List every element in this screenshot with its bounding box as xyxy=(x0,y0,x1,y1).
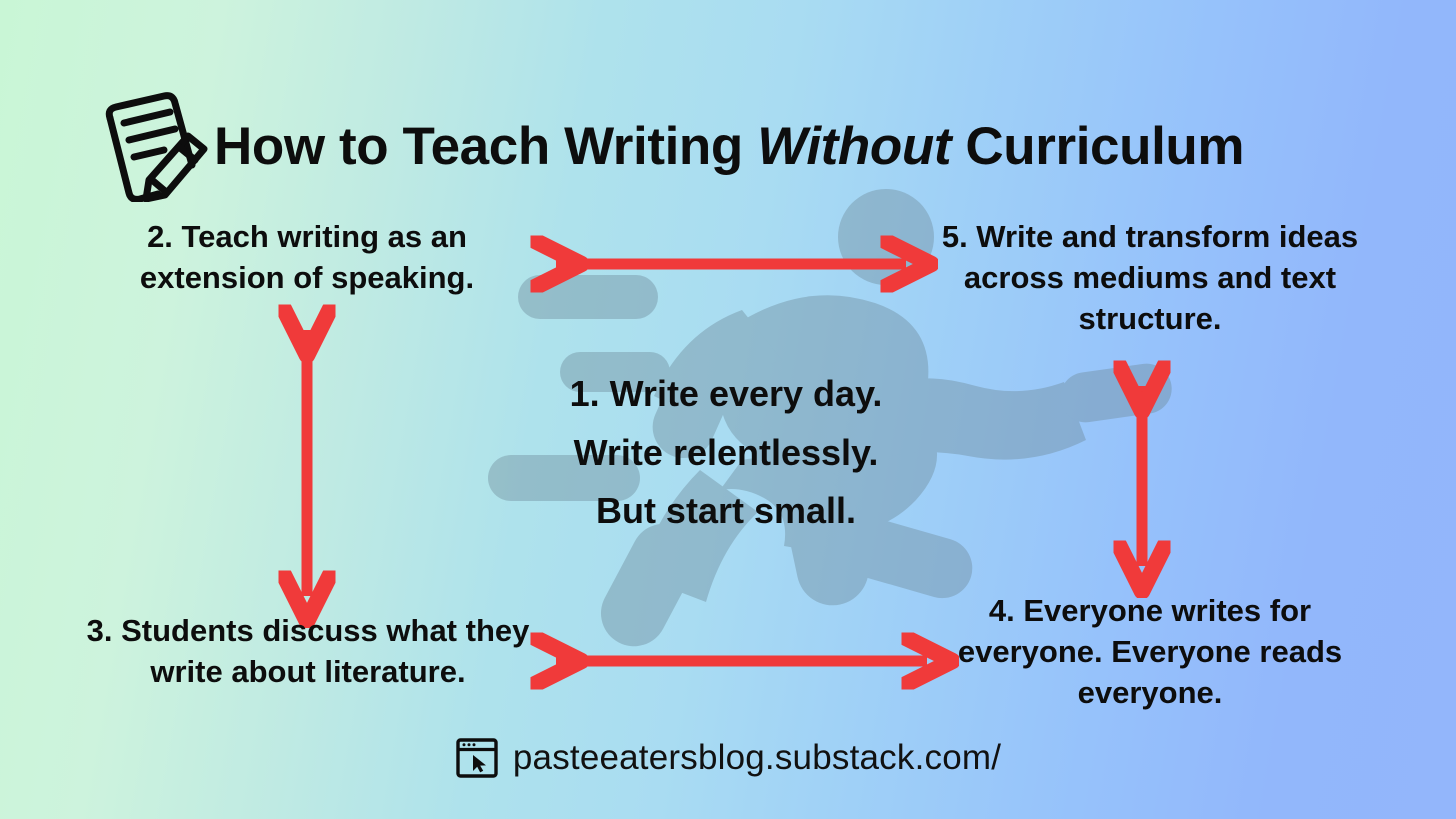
footer-url[interactable]: pasteeatersblog.substack.com/ xyxy=(513,738,1001,778)
footer: pasteeatersblog.substack.com/ xyxy=(0,736,1456,780)
step-2-text: 2. Teach writing as an extension of spea… xyxy=(72,216,542,298)
step-1-line-2: Write relentlessly. xyxy=(456,424,996,483)
infographic-canvas: How to Teach Writing Without Curriculum … xyxy=(0,0,1456,819)
step-3-text: 3. Students discuss what they write abou… xyxy=(78,610,538,692)
step-1-text: 1. Write every day. Write relentlessly. … xyxy=(456,365,996,541)
step-1-line-1: 1. Write every day. xyxy=(456,365,996,424)
step-5-text: 5. Write and transform ideas across medi… xyxy=(930,216,1370,340)
browser-cursor-icon xyxy=(455,736,499,780)
step-4-text: 4. Everyone writes for everyone. Everyon… xyxy=(930,590,1370,714)
step-1-line-3: But start small. xyxy=(456,482,996,541)
